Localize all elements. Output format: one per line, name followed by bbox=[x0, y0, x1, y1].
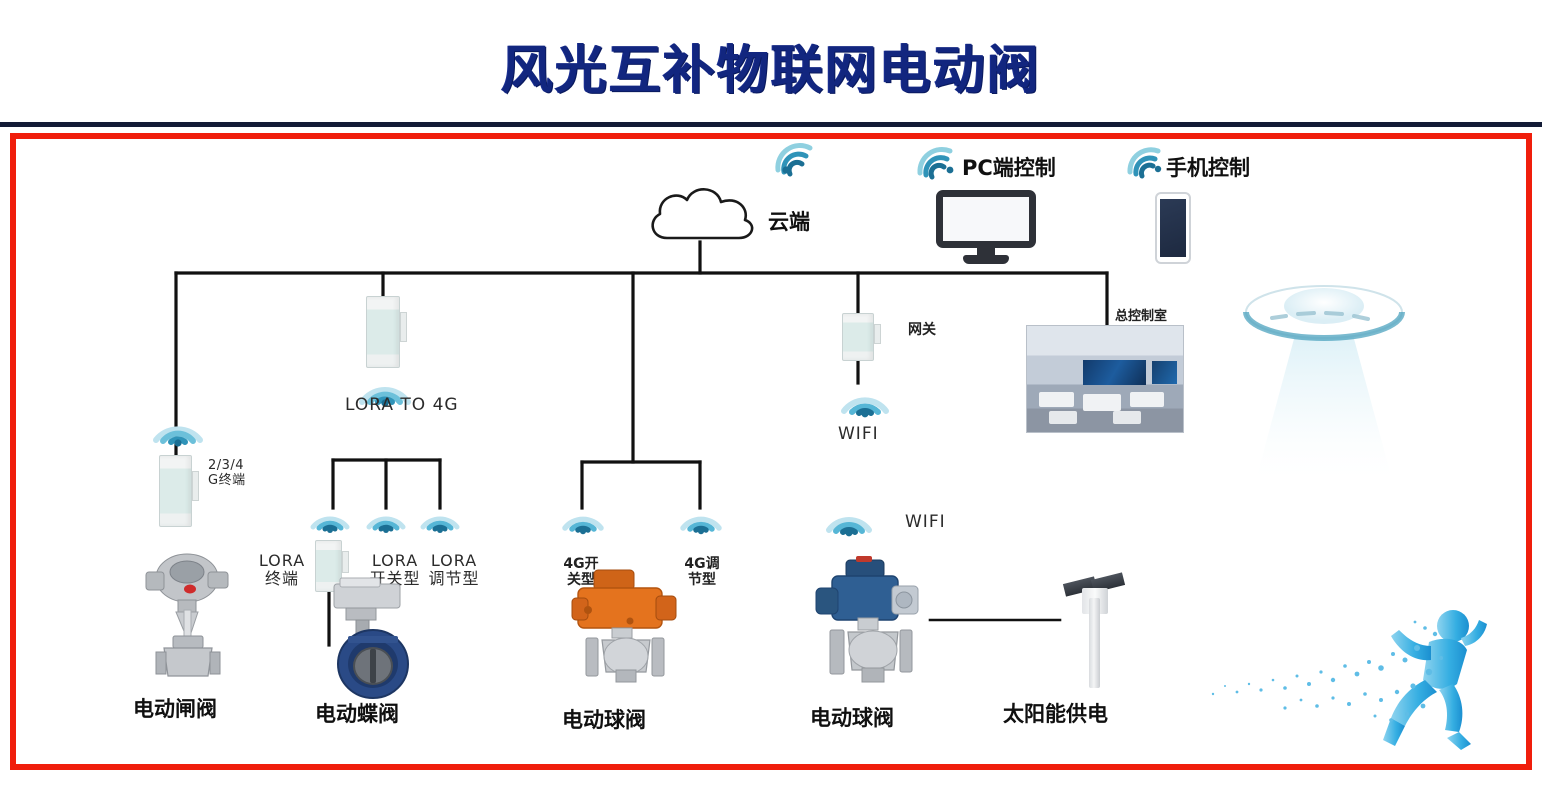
runner-particle-icon bbox=[1185, 588, 1535, 763]
fourg-node-0-signal-icon bbox=[562, 505, 604, 537]
gateway-label: 网关 bbox=[908, 322, 936, 338]
valve-label-0: 电动闸阀 bbox=[133, 697, 217, 721]
lora-to-4g-device-icon bbox=[366, 296, 400, 368]
cloud-wifi-signal-icon bbox=[772, 140, 816, 180]
page-title: 风光互补物联网电动阀 bbox=[0, 28, 1542, 103]
cloud-icon bbox=[645, 180, 760, 242]
smartphone-icon bbox=[1155, 192, 1191, 264]
monitor-icon bbox=[936, 190, 1036, 262]
solar-panel-icon bbox=[1058, 558, 1130, 688]
wifi-node-signal-icon bbox=[826, 505, 872, 539]
control-room-label: 总控制室 bbox=[1115, 310, 1167, 325]
butterfly-valve-image bbox=[326, 578, 422, 702]
lora-node-2-label: LORA 调节型 bbox=[422, 552, 486, 589]
gateway-wifi-signal-icon bbox=[841, 385, 889, 419]
wifi-node-label: WIFI bbox=[905, 513, 946, 533]
valve-label-1: 电动蝶阀 bbox=[315, 702, 399, 726]
cloud-label: 云端 bbox=[768, 210, 810, 234]
ufo-icon bbox=[1232, 272, 1422, 502]
slide-root: 风光互补物联网电动阀 bbox=[0, 0, 1542, 809]
lora-node-0-signal-icon bbox=[310, 505, 350, 535]
ball-valve-orange-image bbox=[572, 566, 684, 688]
mobile-wifi-signal-icon bbox=[1126, 145, 1166, 181]
title-divider bbox=[0, 122, 1542, 127]
gateway-device-icon bbox=[842, 313, 874, 361]
gate-valve-image bbox=[140, 548, 236, 678]
lora-node-1-signal-icon bbox=[366, 505, 406, 535]
control-room-photo bbox=[1026, 325, 1184, 433]
solar-label: 太阳能供电 bbox=[1003, 702, 1108, 726]
fourg-node-1-signal-icon bbox=[680, 505, 722, 537]
terminal-234g-label: 2/3/4 G终端 bbox=[208, 459, 246, 489]
title-bar: 风光互补物联网电动阀 bbox=[0, 0, 1542, 122]
pc-wifi-signal-icon bbox=[916, 145, 958, 183]
lora-node-2-signal-icon bbox=[420, 505, 460, 535]
terminal-234g-signal-icon bbox=[152, 412, 204, 448]
mobile-control-label: 手机控制 bbox=[1166, 156, 1250, 180]
lora-node-0-label: LORA 终端 bbox=[250, 552, 314, 589]
pc-control-label: PC端控制 bbox=[962, 156, 1056, 180]
terminal-234g-device-icon bbox=[159, 455, 192, 527]
ball-valve-blue-image bbox=[812, 552, 930, 692]
bottom-strip bbox=[0, 776, 1542, 809]
lora-to-4g-label: LORA TO 4G bbox=[345, 396, 459, 416]
gateway-wifi-label: WIFI bbox=[838, 425, 879, 445]
valve-label-3: 电动球阀 bbox=[810, 706, 894, 730]
valve-label-2: 电动球阀 bbox=[562, 708, 646, 732]
